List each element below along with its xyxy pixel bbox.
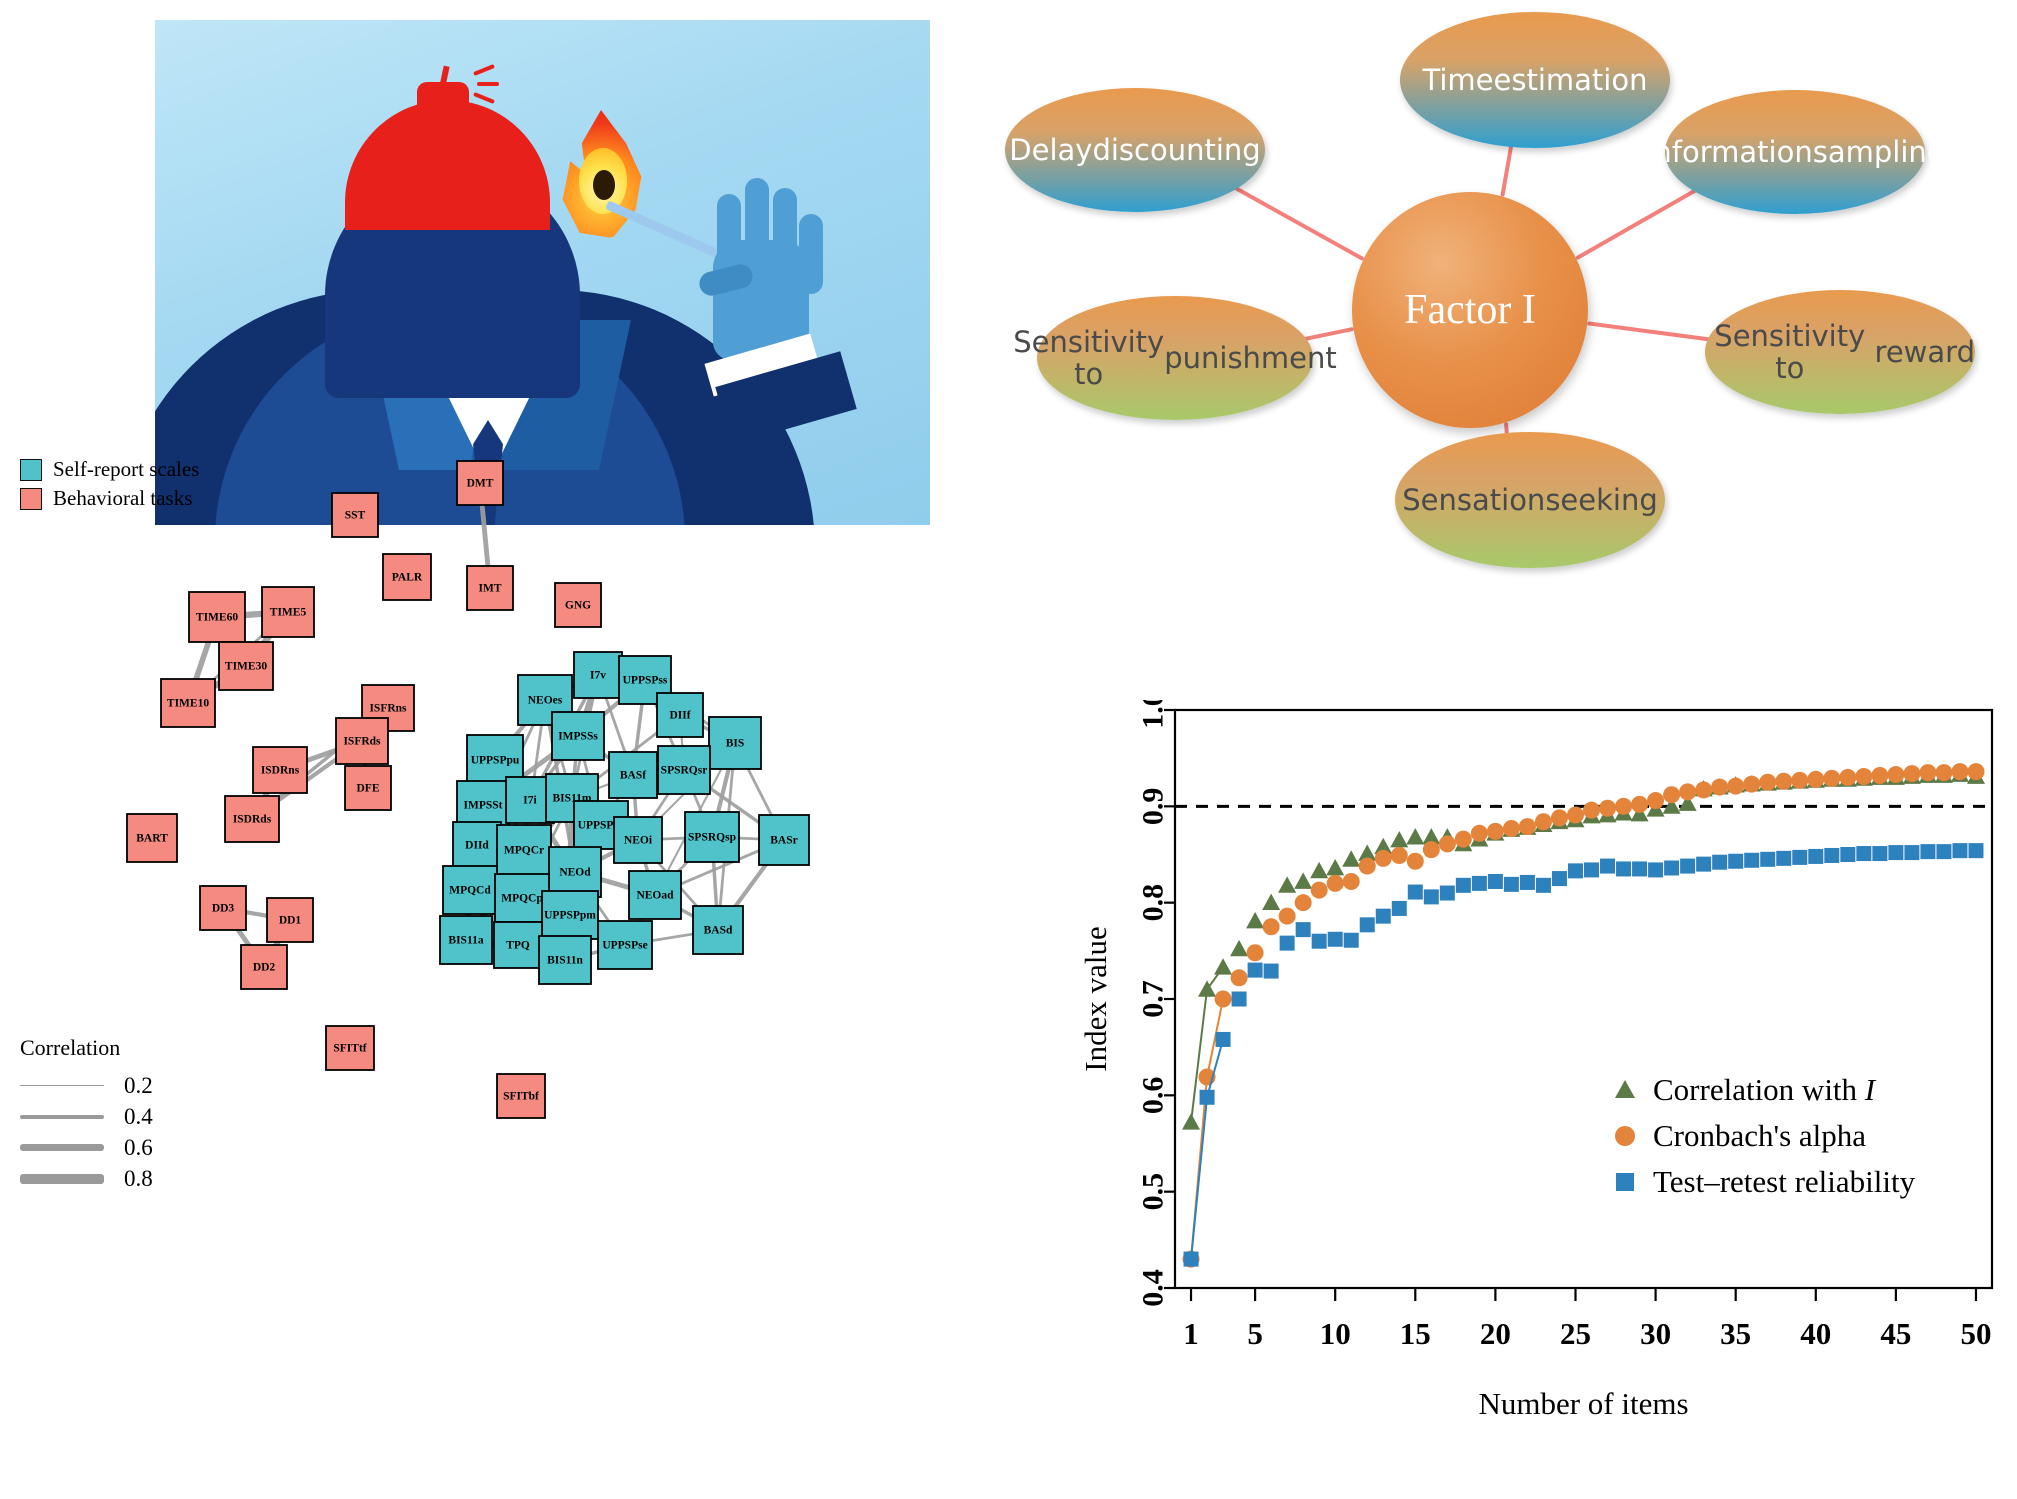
data-point-circle: [1615, 798, 1632, 815]
data-point-circle: [1295, 894, 1312, 911]
data-point-circle: [1231, 969, 1248, 986]
data-point-square: [1872, 846, 1887, 861]
network-node-DD1[interactable]: DD1: [267, 898, 313, 942]
factor-center-label: Factor I: [1404, 286, 1536, 334]
data-point-square: [1952, 843, 1967, 858]
node-label: TIME10: [167, 698, 209, 710]
data-point-square: [1584, 862, 1599, 877]
x-tick-label: 5: [1247, 1316, 1263, 1351]
node-label: DIId: [465, 840, 489, 852]
factor-node-information-sampling: Informationsampling: [1665, 90, 1925, 214]
node-label: ISFRds: [343, 736, 381, 748]
network-node-SPSRQsr[interactable]: SPSRQsr: [658, 746, 710, 794]
network-node-SST[interactable]: SST: [332, 493, 378, 537]
data-point-circle: [1423, 841, 1440, 858]
network-nodes: SSTDMTPALRIMTGNGTIME60TIME5TIME30TIME10I…: [127, 461, 809, 1118]
data-point-circle: [1647, 792, 1664, 809]
network-node-BASf[interactable]: BASf: [609, 752, 657, 798]
correlation-value: 0.2: [124, 1073, 153, 1099]
network-node-PALR[interactable]: PALR: [383, 554, 431, 600]
network-node-NEOd[interactable]: NEOd: [549, 847, 601, 897]
y-tick-label: 0.9: [1137, 788, 1170, 826]
data-point-circle: [1519, 818, 1536, 835]
node-label: BASr: [770, 835, 797, 847]
spark-icon: [477, 82, 499, 86]
network-graph: SSTDMTPALRIMTGNGTIME60TIME5TIME30TIME10I…: [0, 440, 900, 1499]
data-point-circle: [1727, 778, 1744, 795]
factor-node-label-line: Information: [1645, 136, 1813, 168]
data-point-circle: [1375, 850, 1392, 867]
x-tick-label: 25: [1560, 1316, 1591, 1351]
data-point-triangle: [1326, 859, 1344, 875]
data-point-square: [1776, 851, 1791, 866]
node-label: I7i: [523, 795, 537, 807]
data-point-circle: [1359, 858, 1376, 875]
node-label: DD1: [279, 915, 302, 927]
correlation-value: 0.6: [124, 1135, 153, 1161]
factor-node-sensation-seeking: Sensationseeking: [1395, 432, 1665, 568]
data-point-circle: [1327, 875, 1344, 892]
data-point-square: [1248, 963, 1263, 978]
correlation-line-04-icon: [20, 1115, 104, 1119]
data-point-square: [1920, 844, 1935, 859]
gloved-hand: [695, 170, 823, 370]
factor-node-label-line: Sensation: [1402, 484, 1545, 516]
node-label: UPPSPss: [623, 675, 668, 687]
data-point-square: [1408, 885, 1423, 900]
data-point-square: [1856, 846, 1871, 861]
factor-diagram-panel: Factor I Timeestimation Informationsampl…: [1080, 0, 2017, 720]
network-legend: Self-report scales Behavioral tasks: [20, 455, 199, 513]
data-point-square: [1696, 857, 1711, 872]
data-point-circle: [1919, 764, 1936, 781]
data-point-square: [1824, 848, 1839, 863]
data-point-square: [1456, 878, 1471, 893]
x-tick-label: 10: [1320, 1316, 1351, 1351]
network-node-DD3[interactable]: DD3: [200, 886, 246, 930]
data-point-square: [1264, 964, 1279, 979]
data-point-circle: [1711, 779, 1728, 796]
data-point-triangle: [1342, 850, 1360, 866]
legend-label: Test–retest reliability: [1653, 1164, 1916, 1199]
x-tick-label: 30: [1640, 1316, 1671, 1351]
data-point-triangle: [1182, 1113, 1200, 1129]
factor-node-label-line: Time: [1423, 64, 1494, 96]
node-label: ISDRns: [261, 765, 300, 777]
data-point-square: [1328, 932, 1343, 947]
node-label: DIIf: [669, 710, 690, 722]
data-point-square: [1904, 845, 1919, 860]
node-label: NEOes: [528, 695, 563, 707]
node-label: BIS: [726, 738, 745, 750]
data-point-circle: [1759, 774, 1776, 791]
network-node-SPSRQsp[interactable]: SPSRQsp: [685, 812, 739, 862]
node-label: NEOd: [559, 867, 591, 879]
data-point-circle: [1967, 763, 1984, 780]
data-point-circle: [1887, 766, 1904, 783]
data-point-triangle: [1310, 862, 1328, 878]
correlation-legend-row: 0.8: [20, 1163, 153, 1194]
data-point-circle: [1743, 776, 1760, 793]
data-point-circle: [1567, 807, 1584, 824]
data-point-triangle: [1390, 831, 1408, 847]
node-label: IMPSSs: [558, 731, 598, 743]
factor-node-sensitivity-to-reward: Sensitivity toreward: [1705, 290, 1975, 414]
node-label: IMPSSt: [464, 800, 503, 812]
data-point-square: [1760, 852, 1775, 867]
data-point-square: [1472, 876, 1487, 891]
data-point-square: [1440, 886, 1455, 901]
factor-node-sensitivity-to-punishment: Sensitivity topunishment: [1037, 296, 1313, 420]
legend-marker-circle: [1615, 1126, 1635, 1146]
network-node-BASd[interactable]: BASd: [693, 906, 743, 954]
x-tick-label: 50: [1960, 1316, 1991, 1351]
data-point-square: [1616, 861, 1631, 876]
x-tick-label: 20: [1480, 1316, 1511, 1351]
data-point-circle: [1903, 765, 1920, 782]
node-label: DD2: [253, 962, 276, 974]
network-node-SFITbf[interactable]: SFITbf: [497, 1074, 545, 1118]
data-point-triangle: [1262, 894, 1280, 910]
data-point-circle: [1631, 796, 1648, 813]
legend-marker-triangle: [1615, 1080, 1635, 1098]
data-point-square: [1728, 854, 1743, 869]
correlation-line-08-icon: [20, 1174, 104, 1184]
network-node-SFITtf[interactable]: SFITtf: [326, 1026, 374, 1070]
data-point-square: [1568, 863, 1583, 878]
data-point-circle: [1215, 991, 1232, 1008]
x-tick-label: 35: [1720, 1316, 1751, 1351]
node-label: DFE: [357, 783, 380, 795]
node-label: SFITbf: [503, 1091, 539, 1103]
data-point-circle: [1935, 764, 1952, 781]
network-node-UPPSPse[interactable]: UPPSPse: [598, 921, 652, 969]
node-label: TPQ: [506, 940, 530, 952]
legend-label: Behavioral tasks: [53, 484, 192, 513]
data-point-square: [1184, 1252, 1199, 1267]
node-label: IMT: [479, 583, 502, 595]
data-point-circle: [1279, 908, 1296, 925]
y-axis: 0.40.50.60.70.80.91.0: [1137, 700, 1176, 1307]
node-label: DMT: [467, 478, 494, 490]
data-point-square: [1808, 849, 1823, 864]
data-point-square: [1376, 909, 1391, 924]
network-node-BIS11a[interactable]: BIS11a: [440, 916, 492, 964]
data-point-square: [1536, 878, 1551, 893]
data-point-circle: [1455, 831, 1472, 848]
legend-item-behavioral: Behavioral tasks: [20, 484, 199, 513]
square-swatch-pink-icon: [20, 488, 42, 510]
data-point-square: [1744, 853, 1759, 868]
data-point-circle: [1391, 847, 1408, 864]
data-point-square: [1280, 936, 1295, 951]
node-label: BASf: [620, 770, 646, 782]
network-node-DMT[interactable]: DMT: [457, 461, 503, 505]
factor-node-label-line: punishment: [1164, 342, 1337, 374]
data-point-triangle: [1198, 980, 1216, 996]
factor-node-label-line: estimation: [1494, 64, 1648, 96]
correlation-legend-row: 0.6: [20, 1132, 153, 1163]
data-point-circle: [1535, 813, 1552, 830]
factor-node-label-line: sampling: [1813, 136, 1945, 168]
data-point-triangle: [1406, 828, 1424, 844]
data-point-square: [1600, 859, 1615, 874]
node-label: BIS11a: [448, 935, 483, 947]
network-node-MPQCr[interactable]: MPQCr: [497, 825, 551, 875]
network-node-ISFRds[interactable]: ISFRds: [336, 718, 388, 764]
data-point-circle: [1583, 802, 1600, 819]
node-label: BASd: [704, 925, 733, 937]
correlation-legend-row: 0.4: [20, 1101, 153, 1132]
node-label: BIS11n: [547, 955, 583, 967]
factor-node-label-line: Sensitivity to: [1705, 320, 1875, 385]
y-tick-label: 0.6: [1137, 1077, 1170, 1115]
network-node-DFE[interactable]: DFE: [345, 766, 391, 810]
data-point-circle: [1439, 835, 1456, 852]
network-node-NEOad[interactable]: NEOad: [629, 871, 681, 919]
node-label: UPPSPpm: [544, 910, 596, 922]
node-label: TIME30: [225, 661, 267, 673]
data-point-triangle: [1294, 872, 1312, 888]
data-point-square: [1552, 871, 1567, 886]
data-point-square: [1888, 845, 1903, 860]
node-label: MPQCd: [449, 885, 491, 897]
x-tick-label: 45: [1880, 1316, 1911, 1351]
network-node-TIME10[interactable]: TIME10: [161, 679, 215, 727]
network-node-BIS11n[interactable]: BIS11n: [539, 936, 591, 984]
factor-node-label-line: Sensitivity to: [1013, 326, 1164, 391]
node-label: UPPSPse: [602, 940, 647, 952]
network-node-UPPSPpm[interactable]: UPPSPpm: [542, 891, 598, 939]
data-point-square: [1792, 850, 1807, 865]
data-point-square: [1232, 992, 1247, 1007]
network-node-ISDRns[interactable]: ISDRns: [253, 747, 307, 793]
y-tick-label: 0.8: [1137, 884, 1170, 922]
data-point-circle: [1487, 823, 1504, 840]
node-label: MPQCr: [504, 845, 544, 857]
y-tick-label: 0.7: [1137, 980, 1170, 1018]
data-point-square: [1840, 847, 1855, 862]
node-label: MPQCp: [501, 893, 543, 905]
plot-frame: [1175, 710, 1992, 1288]
data-point-square: [1200, 1090, 1215, 1105]
data-point-circle: [1343, 873, 1360, 890]
x-tick-label: 40: [1800, 1316, 1831, 1351]
node-label: NEOi: [624, 835, 653, 847]
node-label: ISFRns: [369, 703, 407, 715]
data-point-circle: [1871, 767, 1888, 784]
node-label: NEOad: [636, 890, 674, 902]
y-tick-label: 0.4: [1137, 1269, 1170, 1307]
x-axis: 15101520253035404550: [1183, 1288, 1991, 1351]
data-point-circle: [1679, 783, 1696, 800]
legend-label: Self-report scales: [53, 455, 199, 484]
data-point-circle: [1791, 772, 1808, 789]
legend-marker-square: [1616, 1173, 1634, 1191]
node-label: DD3: [212, 903, 235, 915]
node-label: UPPSPpu: [471, 755, 520, 767]
x-axis-title: Number of items: [1478, 1386, 1688, 1421]
network-node-MPQCp[interactable]: MPQCp: [495, 874, 549, 922]
x-tick-label: 15: [1400, 1316, 1431, 1351]
correlation-line-02-icon: [20, 1085, 104, 1087]
factor-center-node: Factor I: [1352, 192, 1588, 428]
data-point-circle: [1951, 763, 1968, 780]
legend-label: Correlation with I: [1653, 1072, 1877, 1107]
network-node-IMT[interactable]: IMT: [467, 566, 513, 610]
node-label: SFITtf: [333, 1043, 366, 1055]
data-point-circle: [1807, 771, 1824, 788]
correlation-value: 0.8: [124, 1166, 153, 1192]
data-point-square: [1936, 844, 1951, 859]
data-point-square: [1968, 843, 1983, 858]
data-point-square: [1632, 861, 1647, 876]
data-point-circle: [1471, 825, 1488, 842]
factor-node-delay-discounting: Delaydiscounting: [1005, 88, 1265, 212]
data-point-circle: [1855, 768, 1872, 785]
correlation-value: 0.4: [124, 1104, 153, 1130]
data-point-circle: [1311, 882, 1328, 899]
data-point-triangle: [1246, 912, 1264, 928]
legend-label-italic: I: [1864, 1072, 1877, 1107]
node-label: I7v: [590, 670, 606, 682]
data-point-square: [1712, 855, 1727, 870]
network-node-NEOi[interactable]: NEOi: [614, 817, 662, 863]
node-label: SPSRQsr: [661, 765, 708, 777]
correlation-legend: Correlation 0.2 0.4 0.6 0.8: [20, 1035, 153, 1194]
node-label: PALR: [392, 572, 423, 584]
data-point-square: [1360, 917, 1375, 932]
data-point-circle: [1823, 770, 1840, 787]
node-label: TIME5: [270, 607, 307, 619]
data-point-square: [1344, 933, 1359, 948]
network-node-DD2[interactable]: DD2: [241, 945, 287, 989]
data-point-square: [1312, 934, 1327, 949]
data-point-circle: [1407, 853, 1424, 870]
factor-node-label-line: seeking: [1545, 484, 1657, 516]
data-point-triangle: [1278, 876, 1296, 892]
node-label: BART: [136, 833, 168, 845]
data-point-circle: [1695, 781, 1712, 798]
data-point-square: [1648, 862, 1663, 877]
data-point-square: [1424, 889, 1439, 904]
node-label: GNG: [565, 600, 591, 612]
network-node-BASr[interactable]: BASr: [759, 815, 809, 865]
x-tick-label: 1: [1183, 1316, 1199, 1351]
legend-item-self-report: Self-report scales: [20, 455, 199, 484]
data-point-square: [1392, 901, 1407, 916]
network-node-IMPSSs[interactable]: IMPSSs: [552, 712, 604, 760]
legend-label: Cronbach's alpha: [1653, 1118, 1866, 1153]
correlation-legend-title: Correlation: [20, 1035, 153, 1061]
data-point-square: [1520, 875, 1535, 890]
network-node-DIId[interactable]: DIId: [453, 822, 501, 868]
data-point-triangle: [1230, 940, 1248, 956]
network-node-ISDRds[interactable]: ISDRds: [225, 796, 279, 842]
network-node-BART[interactable]: BART: [127, 814, 177, 862]
data-point-circle: [1551, 809, 1568, 826]
node-label: SST: [345, 510, 366, 522]
data-point-square: [1680, 859, 1695, 874]
data-point-circle: [1775, 773, 1792, 790]
reliability-chart-panel: 0.40.50.60.70.80.91.0Index value15101520…: [1080, 700, 2017, 1499]
network-node-TIME30[interactable]: TIME30: [219, 642, 273, 690]
data-point-circle: [1263, 918, 1280, 935]
data-point-circle: [1663, 786, 1680, 803]
node-label: ISDRds: [233, 814, 272, 826]
network-node-DIIf[interactable]: DIIf: [657, 693, 703, 737]
data-point-circle: [1247, 944, 1264, 961]
data-point-square: [1504, 877, 1519, 892]
factor-node-label-line: discounting: [1092, 134, 1260, 166]
y-axis-title: Index value: [1080, 926, 1113, 1071]
data-point-square: [1488, 874, 1503, 889]
data-point-square: [1216, 1032, 1231, 1047]
data-point-triangle: [1214, 958, 1232, 974]
data-point-square: [1664, 860, 1679, 875]
correlation-legend-row: 0.2: [20, 1070, 153, 1101]
chart-legend: Correlation with ICronbach's alphaTest–r…: [1615, 1072, 1916, 1199]
factor-node-label-line: reward: [1875, 336, 1975, 368]
network-node-BIS[interactable]: BIS: [709, 717, 761, 769]
node-label: SPSRQsp: [688, 832, 736, 844]
network-node-TIME5[interactable]: TIME5: [262, 587, 314, 637]
data-point-circle: [1839, 769, 1856, 786]
network-node-I7v[interactable]: I7v: [574, 652, 622, 698]
factor-node-label-line: Delay: [1009, 134, 1092, 166]
y-tick-label: 0.5: [1137, 1173, 1170, 1211]
factor-node-time-estimation: Timeestimation: [1400, 12, 1670, 148]
y-tick-label: 1.0: [1137, 700, 1170, 729]
match-head: [593, 170, 615, 200]
data-point-circle: [1599, 800, 1616, 817]
network-node-TIME60[interactable]: TIME60: [189, 592, 245, 642]
square-swatch-teal-icon: [20, 459, 42, 481]
data-point-square: [1296, 922, 1311, 937]
network-node-MPQCd[interactable]: MPQCd: [443, 866, 497, 914]
network-node-GNG[interactable]: GNG: [555, 583, 601, 627]
index-value-scatter-chart: 0.40.50.60.70.80.91.0Index value15101520…: [1080, 700, 2017, 1499]
network-node-TPQ[interactable]: TPQ: [494, 922, 542, 968]
correlation-line-06-icon: [20, 1144, 104, 1151]
data-point-circle: [1503, 820, 1520, 837]
network-panel: SSTDMTPALRIMTGNGTIME60TIME5TIME30TIME10I…: [0, 440, 900, 1499]
node-label: TIME60: [196, 612, 238, 624]
